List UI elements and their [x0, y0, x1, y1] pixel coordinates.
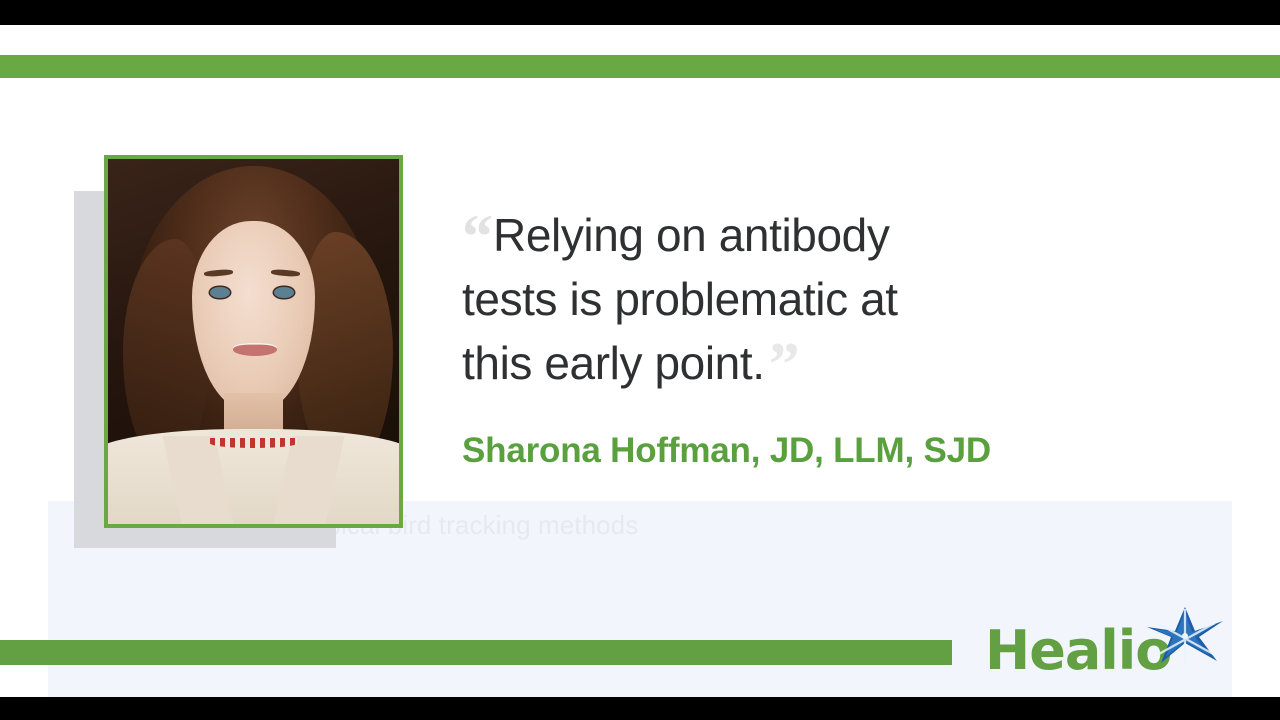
quote-line-3: this early point.” — [462, 331, 1082, 395]
quote-attribution: Sharona Hoffman, JD, LLM, SJD — [462, 431, 991, 471]
close-quote-icon: ” — [769, 331, 798, 399]
portrait-image — [108, 159, 399, 524]
video-frame: typical bird tracking methods — [0, 0, 1280, 720]
open-quote-icon: “ — [462, 203, 491, 271]
quote-block: “Relying on antibody tests is problemati… — [462, 203, 1082, 395]
quote-line-1: “Relying on antibody — [462, 203, 1082, 267]
healio-logo[interactable]: Healio — [985, 605, 1225, 685]
portrait-frame — [104, 155, 403, 528]
quote-line-1-text: Relying on antibody — [493, 209, 889, 261]
top-green-rule — [0, 55, 1280, 78]
background-article-line-1: typical bird tracking methods — [306, 505, 1280, 545]
compass-star-icon — [1145, 605, 1225, 667]
healio-wordmark: Healio — [985, 619, 1171, 682]
quote-line-2: tests is problematic at — [462, 267, 1082, 331]
quote-line-2-text: tests is problematic at — [462, 273, 898, 325]
quote-slide: typical bird tracking methods — [0, 25, 1280, 697]
letterbox-bottom — [0, 697, 1280, 720]
quote-line-3-text: this early point. — [462, 337, 765, 389]
letterbox-top — [0, 0, 1280, 25]
bottom-green-rule — [0, 640, 952, 665]
